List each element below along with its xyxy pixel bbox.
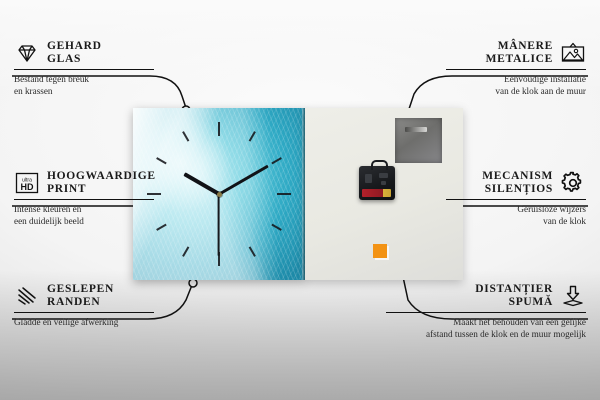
clock-tick <box>271 157 282 164</box>
clock-second-hand <box>218 194 220 256</box>
metal-hanger-plate <box>395 118 442 163</box>
clock-tick <box>277 193 291 195</box>
clock-tick <box>182 246 189 257</box>
callout-subtitle-line1: Maakt het behouden van een gelijke <box>356 317 586 329</box>
foam-spacer <box>373 244 387 258</box>
callout-subtitle-line1: Geruisloze wijzers <box>386 204 586 216</box>
hanger-slot <box>405 127 427 132</box>
callout-subtitle-line2: afstand tussen de klok en de muur mogeli… <box>356 329 586 341</box>
picture-frame-icon <box>560 41 586 65</box>
callout-title-line2: SPUMĂ <box>356 296 553 309</box>
callout-rule <box>14 199 154 200</box>
ultra-hd-icon-large-label: HD <box>21 182 34 192</box>
callout-hoogwaardige-print: ultra HD HOOGWAARDIGE PRINT Intense kleu… <box>14 170 214 227</box>
callout-title-line1: GEHARD <box>47 40 102 53</box>
callout-subtitle-line1: Bestand tegen breuk <box>14 74 214 86</box>
clock-minute-hand <box>218 165 268 196</box>
callout-title-line2: SILENȚIOS <box>482 183 553 196</box>
callout-subtitle-line2: een duidelijk beeld <box>14 216 214 228</box>
callout-header: MECANISM SILENȚIOS <box>386 170 586 196</box>
clock-tick <box>218 122 220 136</box>
callout-subtitle-line1: Eenvoudige installatie <box>386 74 586 86</box>
callout-header: DISTANȚIER SPUMĂ <box>356 283 586 309</box>
callout-rule <box>14 312 154 313</box>
callout-title-line1: MÂNERE <box>486 40 553 53</box>
callout-header: MÂNERE METALICE <box>386 40 586 66</box>
ultra-hd-icon: ultra HD <box>14 171 40 195</box>
clock-tick <box>271 224 282 231</box>
clock-tick <box>182 131 189 142</box>
callout-mecanism-silentios: MECANISM SILENȚIOS Geruisloze wijzers va… <box>386 170 586 227</box>
diamond-icon <box>14 41 40 65</box>
callout-title-line1: DISTANȚIER <box>356 283 553 296</box>
callout-title-line2: METALICE <box>486 53 553 66</box>
callout-header: GESLEPEN RANDEN <box>14 283 214 309</box>
callout-subtitle-line2: en krassen <box>14 86 214 98</box>
callout-rule <box>386 312 586 313</box>
callout-subtitle-line1: Intense kleuren en <box>14 204 214 216</box>
callout-header: GEHARD GLAS <box>14 40 214 66</box>
clock-tick <box>156 157 167 164</box>
callout-title-line2: PRINT <box>47 183 156 196</box>
down-arrow-layer-icon <box>560 284 586 308</box>
gear-icon <box>560 171 586 195</box>
callout-title-line2: GLAS <box>47 53 102 66</box>
clock-tick <box>249 246 256 257</box>
callout-distantier-spuma: DISTANȚIER SPUMĂ Maakt het behouden van … <box>356 283 586 340</box>
callout-title-line1: MECANISM <box>482 170 553 183</box>
mechanism-hanger-loop <box>371 160 388 170</box>
clock-center-pivot <box>217 192 222 197</box>
callout-rule <box>446 69 586 70</box>
callout-rule <box>446 199 586 200</box>
callout-title-line1: HOOGWAARDIGE <box>47 170 156 183</box>
callout-subtitle-line1: Gladde en veilige afwerking <box>14 317 214 329</box>
callout-title-line2: RANDEN <box>47 296 114 309</box>
diagonal-lines-icon <box>14 284 40 308</box>
callout-subtitle-line2: van de klok <box>386 216 586 228</box>
callout-geslepen-randen: GESLEPEN RANDEN Gladde en veilige afwerk… <box>14 283 214 329</box>
infographic-canvas: GEHARD GLAS Bestand tegen breuk en krass… <box>0 0 600 400</box>
callout-manere-metalice: MÂNERE METALICE Eenvoudige installatie v… <box>386 40 586 97</box>
callout-header: ultra HD HOOGWAARDIGE PRINT <box>14 170 214 196</box>
callout-rule <box>14 69 154 70</box>
mechanism-detail <box>365 174 372 183</box>
callout-title-line1: GESLEPEN <box>47 283 114 296</box>
clock-tick <box>249 131 256 142</box>
callout-gehard-glas: GEHARD GLAS Bestand tegen breuk en krass… <box>14 40 214 97</box>
callout-subtitle-line2: van de klok aan de muur <box>386 86 586 98</box>
